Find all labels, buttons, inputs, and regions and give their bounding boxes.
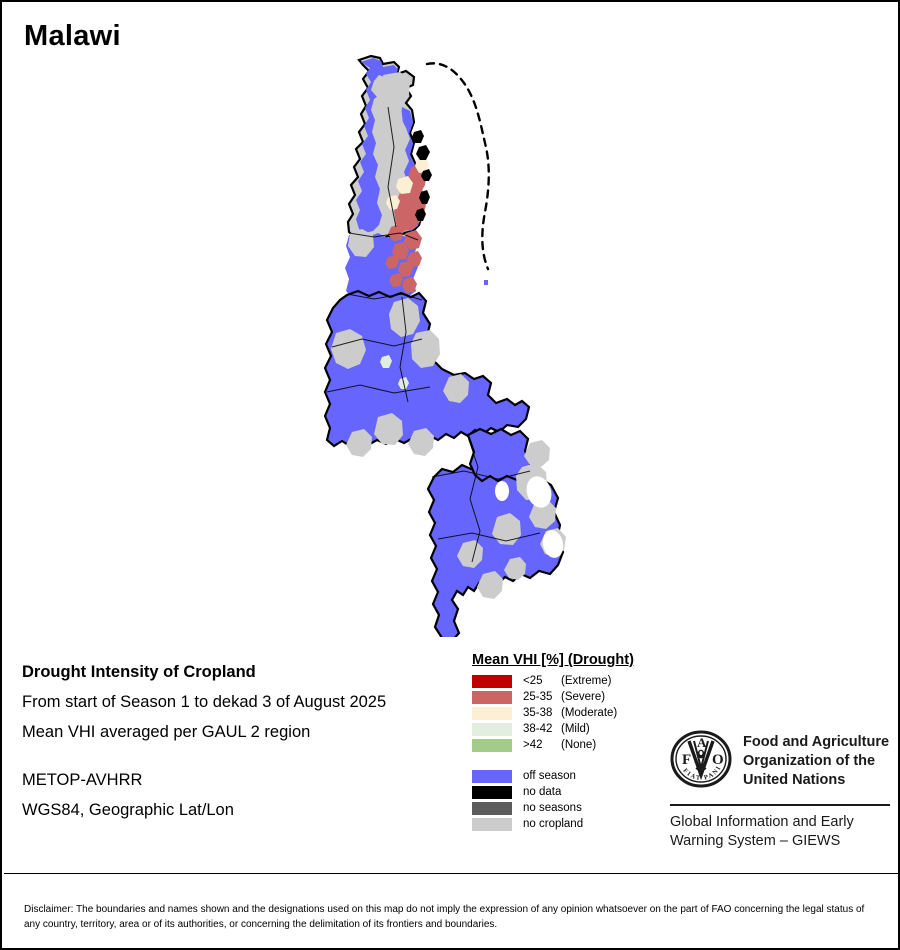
fao-name-line2: Organization of the (743, 752, 889, 771)
caption-heading: Drought Intensity of Cropland (22, 657, 452, 687)
map-legend: Mean VHI [%] (Drought) <25 (Extreme) 25-… (472, 652, 672, 832)
legend-name-extreme: (Extreme) (561, 675, 611, 687)
legend-swatch-no-seasons (472, 802, 512, 815)
legend-swatch-mild (472, 723, 512, 736)
legend-label-off-season: off season (523, 770, 576, 782)
svg-text:A: A (697, 735, 707, 750)
caption-period: From start of Season 1 to dekad 3 of Aug… (22, 687, 452, 717)
legend-name-mild: (Mild) (561, 723, 590, 735)
svg-text:F: F (682, 752, 691, 768)
legend-item-extreme[interactable]: <25 (Extreme) (472, 673, 672, 689)
legend-spacer (472, 753, 672, 768)
legend-item-no-data[interactable]: no data (472, 784, 672, 800)
caption-block: Drought Intensity of Cropland From start… (22, 657, 452, 825)
legend-item-severe[interactable]: 25-35 (Severe) (472, 689, 672, 705)
fao-branding: F A O FIAT PANIS Food and Agriculture Or… (670, 728, 890, 851)
legend-name-none: (None) (561, 739, 596, 751)
legend-swatch-no-cropland (472, 818, 512, 831)
legend-name-severe: (Severe) (561, 691, 605, 703)
map-graphics (325, 56, 566, 637)
legend-label-no-cropland: no cropland (523, 818, 583, 830)
caption-projection: WGS84, Geographic Lat/Lon (22, 795, 452, 825)
caption-method: Mean VHI averaged per GAUL 2 region (22, 717, 452, 747)
legend-item-mild[interactable]: 38-42 (Mild) (472, 721, 672, 737)
giews-line1: Global Information and Early (670, 813, 890, 832)
stray-pixel (484, 280, 488, 285)
legend-swatch-extreme (472, 675, 512, 688)
legend-range-extreme: <25 (523, 675, 561, 687)
legend-label-no-seasons: no seasons (523, 802, 582, 814)
malawi-choropleth-map[interactable] (2, 47, 900, 637)
legend-range-severe: 25-35 (523, 691, 561, 703)
legend-swatch-moderate (472, 707, 512, 720)
map-page: Malawi (0, 0, 900, 950)
caption-sensor: METOP-AVHRR (22, 765, 452, 795)
legend-range-mild: 38-42 (523, 723, 561, 735)
lake-malawi-dashed-boundary (427, 63, 489, 269)
giews-name: Global Information and Early Warning Sys… (670, 813, 890, 851)
legend-item-off-season[interactable]: off season (472, 768, 672, 784)
legend-title: Mean VHI [%] (Drought) (472, 652, 672, 668)
legend-item-no-seasons[interactable]: no seasons (472, 800, 672, 816)
legend-swatch-severe (472, 691, 512, 704)
fao-logo-icon: F A O FIAT PANIS (670, 728, 732, 795)
disclaimer-text: Disclaimer: The boundaries and names sho… (24, 902, 880, 932)
caption-spacer (22, 747, 452, 765)
legend-range-moderate: 35-38 (523, 707, 561, 719)
map-region-north (345, 56, 432, 299)
legend-item-no-cropland[interactable]: no cropland (472, 816, 672, 832)
region-fill-off-season-central (325, 291, 529, 446)
legend-item-moderate[interactable]: 35-38 (Moderate) (472, 705, 672, 721)
legend-name-moderate: (Moderate) (561, 707, 617, 719)
legend-swatch-none (472, 739, 512, 752)
legend-item-none[interactable]: >42 (None) (472, 737, 672, 753)
fao-organization-name: Food and Agriculture Organization of the… (743, 733, 889, 790)
legend-range-none: >42 (523, 739, 561, 751)
map-region-south (428, 429, 566, 637)
map-canvas[interactable] (2, 47, 900, 637)
legend-swatch-off-season (472, 770, 512, 783)
fao-name-line3: United Nations (743, 771, 889, 790)
disclaimer-divider (4, 873, 898, 874)
fao-name-line1: Food and Agriculture (743, 733, 889, 752)
fao-divider (670, 804, 890, 806)
legend-label-no-data: no data (523, 786, 561, 798)
giews-line2: Warning System – GIEWS (670, 832, 890, 851)
legend-swatch-no-data (472, 786, 512, 799)
